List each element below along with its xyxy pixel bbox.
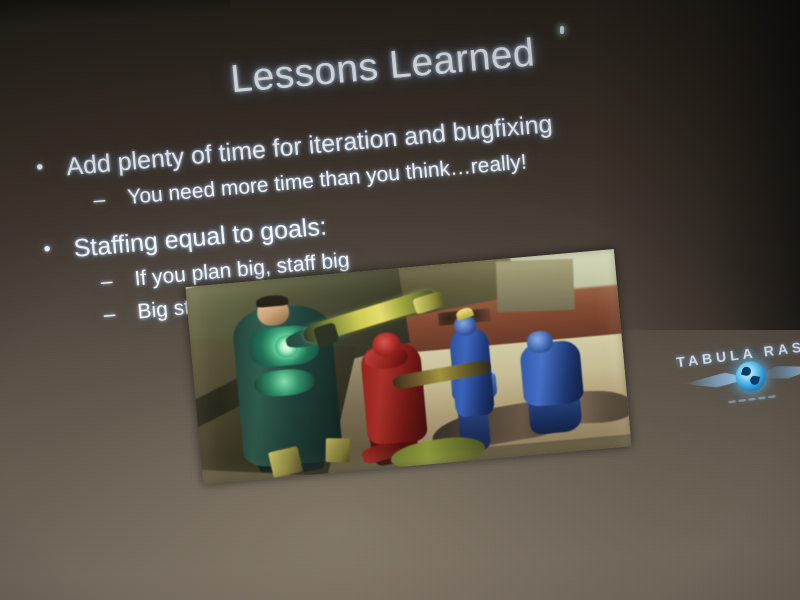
projected-slide-photo: Lessons Learned • Add plenty of time for… (0, 0, 800, 600)
tabula-rasa-logo: TABULA RASA ▬▬▬▬▬ (672, 334, 800, 424)
logo-subtitle: ▬▬▬▬▬ (679, 386, 800, 411)
lens-flare-speck (560, 26, 564, 34)
bullet-marker-dot-icon: • (35, 153, 67, 181)
slide-content: Lessons Learned • Add plenty of time for… (0, 0, 800, 600)
game-screenshot-image (186, 249, 632, 484)
bullet-marker-dot-icon: • (43, 235, 75, 263)
logo-wing-left-icon (683, 371, 740, 392)
logo-wordmark: TABULA RASA (672, 336, 800, 370)
bullet-marker-dash-icon: – (100, 268, 136, 294)
screenshot-projector-wash (186, 249, 632, 484)
logo-wing-right-icon (763, 361, 800, 382)
logo-orb-icon (734, 360, 767, 393)
bullet-marker-dash-icon: – (103, 301, 139, 327)
bullet-marker-dash-icon: – (92, 186, 128, 212)
